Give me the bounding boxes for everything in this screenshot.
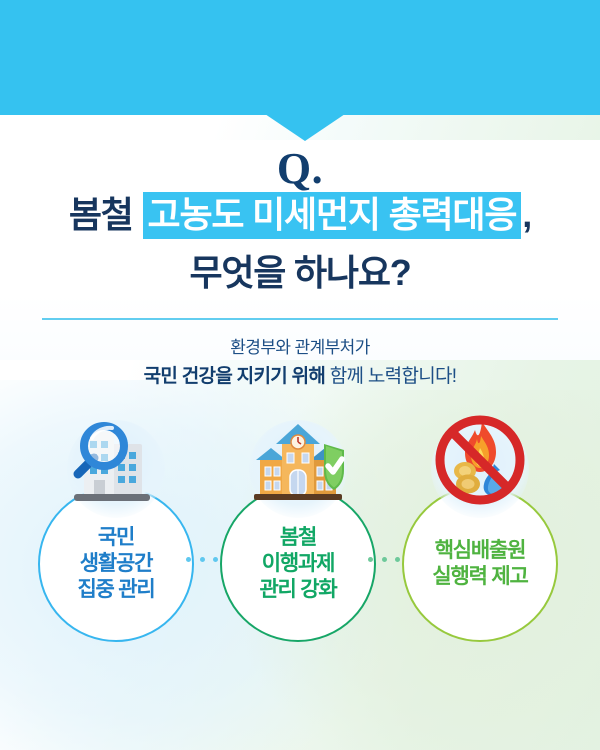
subtitle-emphasis: 국민 건강을 지키기 위해: [144, 366, 326, 387]
speech-bubble-notch-icon: [265, 114, 345, 141]
headline-suffix: ,: [522, 194, 531, 235]
connector-dot: [368, 557, 373, 562]
school-shield-check-icon: [238, 408, 358, 516]
connector-dot: [382, 557, 387, 562]
connector-dot: [200, 557, 205, 562]
connector-1: [186, 557, 218, 562]
top-blue-band: [0, 0, 600, 115]
pillar-2-label: 봄철 이행과제 관리 강화: [259, 525, 336, 603]
headline-line-2: 무엇을 하나요?: [0, 250, 600, 296]
pillar-3[interactable]: 핵심배출원 실행력 제고: [402, 486, 562, 646]
question-mark-label: Q.: [0, 146, 600, 192]
pillar-1[interactable]: 국민 생활공간 집중 관리: [38, 486, 198, 646]
subtitle-line-2: 국민 건강을 지키기 위해 함께 노력합니다!: [0, 364, 600, 390]
magnifier-buildings-icon: [56, 408, 176, 516]
headline-highlight: 고농도 미세먼지 총력대응: [143, 192, 522, 239]
subtitle-rest: 함께 노력합니다!: [325, 366, 456, 387]
infographic-poster: Q. 봄철 고농도 미세먼지 총력대응, 무엇을 하나요? 환경부와 관계부처가…: [0, 0, 600, 750]
headline-line-1: 봄철 고농도 미세먼지 총력대응,: [0, 192, 600, 238]
no-open-burning-icon: [420, 408, 540, 516]
pillar-1-label: 국민 생활공간 집중 관리: [77, 525, 154, 603]
pillar-3-label: 핵심배출원 실행력 제고: [432, 538, 527, 590]
section-divider: [42, 318, 558, 320]
connector-dot: [395, 557, 400, 562]
connector-2: [368, 557, 400, 562]
pillar-2[interactable]: 봄철 이행과제 관리 강화: [220, 486, 380, 646]
connector-dot: [213, 557, 218, 562]
subtitle-line-1: 환경부와 관계부처가: [0, 336, 600, 360]
headline-prefix: 봄철: [69, 194, 142, 235]
connector-dot: [186, 557, 191, 562]
